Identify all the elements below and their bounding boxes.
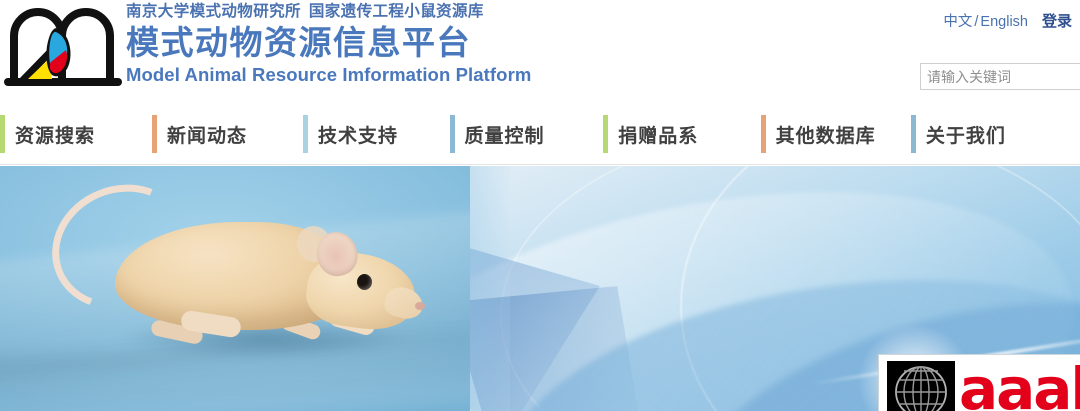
nav-item-donated-strains[interactable]: 捐赠品系 [603, 105, 760, 164]
nav-accent-bar [761, 115, 766, 153]
nav-label: 质量控制 [465, 121, 545, 148]
mouse-illustration [85, 202, 415, 362]
nav-item-tech-support[interactable]: 技术支持 [303, 105, 450, 164]
nav-accent-bar [303, 115, 308, 153]
language-switcher: 中文/English [943, 10, 1028, 31]
mouse-m-logo-icon [4, 2, 122, 90]
org-institute: 南京大学模式动物研究所 [126, 3, 301, 20]
nav-accent-bar [0, 115, 5, 153]
lang-link-en[interactable]: English [980, 14, 1028, 30]
nav-accent-bar [450, 115, 455, 153]
aaalac-accreditation-badge[interactable]: aaalac INTERNATIONAL [878, 354, 1080, 411]
page-title-english: Model Animal Resource Imformation Platfo… [126, 64, 531, 86]
nav-accent-bar [911, 115, 916, 153]
login-button[interactable]: 登录 [1042, 10, 1072, 31]
nav-item-other-databases[interactable]: 其他数据库 [761, 105, 911, 164]
nav-item-news[interactable]: 新闻动态 [152, 105, 303, 164]
page-title: 模式动物资源信息平台 [126, 22, 531, 64]
search-box[interactable] [920, 63, 1080, 90]
hero-banner[interactable]: 最早通过 AAALAC 国际认证 且保持认证资质时间最长的研究机构 [0, 166, 1080, 411]
nav-label: 资源搜索 [15, 121, 95, 148]
site-title-block: 南京大学模式动物研究所国家遗传工程小鼠资源库 模式动物资源信息平台 Model … [126, 2, 531, 86]
lang-link-zh[interactable]: 中文 [943, 14, 972, 30]
nav-accent-bar [603, 115, 608, 153]
search-input[interactable] [920, 63, 1080, 90]
nav-label: 其他数据库 [776, 121, 876, 148]
org-repository: 国家遗传工程小鼠资源库 [309, 3, 484, 20]
banner-mouse-photo [0, 166, 470, 411]
nav-item-quality-control[interactable]: 质量控制 [450, 105, 604, 164]
aaalac-wordmark: aaalac [959, 357, 1080, 411]
organization-line: 南京大学模式动物研究所国家遗传工程小鼠资源库 [126, 2, 531, 22]
lang-separator: / [974, 14, 978, 30]
page-root: 南京大学模式动物研究所国家遗传工程小鼠资源库 模式动物资源信息平台 Model … [0, 0, 1080, 411]
nav-item-about-us[interactable]: 关于我们 [911, 105, 1080, 164]
site-header: 南京大学模式动物研究所国家遗传工程小鼠资源库 模式动物资源信息平台 Model … [0, 0, 1080, 105]
nav-item-resource-search[interactable]: 资源搜索 [0, 105, 152, 164]
nav-accent-bar [152, 115, 157, 153]
nav-label: 新闻动态 [167, 121, 247, 148]
main-navigation: 资源搜索 新闻动态 技术支持 质量控制 捐赠品系 其他数据库 关于我们 [0, 105, 1080, 165]
nav-label: 关于我们 [926, 121, 1006, 148]
header-utility-bar: 中文/English 登录 [943, 10, 1072, 31]
site-logo-icon[interactable] [4, 2, 122, 90]
nav-label: 技术支持 [318, 121, 398, 148]
globe-icon [879, 355, 963, 411]
nav-label: 捐赠品系 [618, 121, 698, 148]
